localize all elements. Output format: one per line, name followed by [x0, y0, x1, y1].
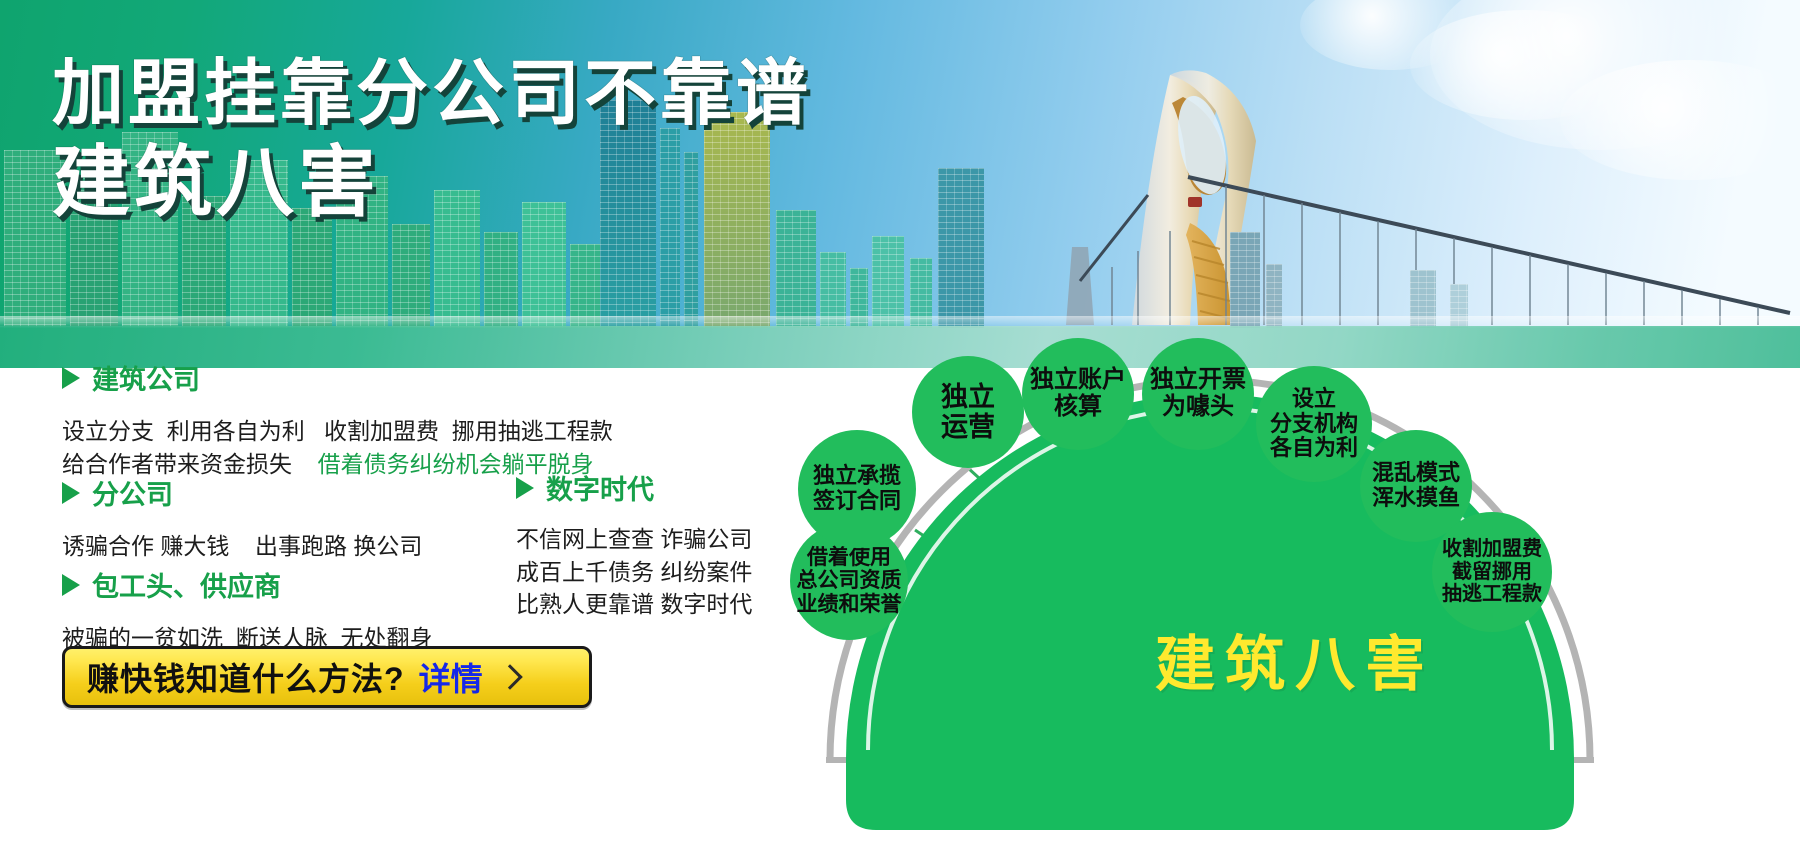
- section-heading: 包工头、供应商: [62, 565, 433, 604]
- section-heading: 建筑公司: [62, 358, 613, 397]
- section-branch-company: 分公司 诱骗合作 赚大钱 出事跑路 换公司: [62, 473, 422, 563]
- section-title: 建筑公司: [92, 358, 200, 397]
- section-line: 不信网上查查 诈骗公司: [516, 523, 752, 556]
- bubble-label-line: 设立: [1270, 387, 1358, 412]
- bubble-label-line: 截留挪用: [1442, 561, 1542, 583]
- left-content: 建筑公司 设立分支 利用各自为利 收割加盟费 挪用抽逃工程款 给合作者带来资金损…: [0, 368, 800, 844]
- bubble-label-line: 浑水摸鱼: [1372, 486, 1460, 511]
- triangle-bullet-icon: [62, 574, 80, 596]
- bubble-label-line: 业绩和荣誉: [797, 593, 902, 617]
- bubble-label-line: 运营: [941, 412, 995, 442]
- dome-center-label: 建筑八害: [790, 616, 1800, 703]
- bubble-label-line: 独立账户: [1030, 367, 1126, 394]
- section-digital-era: 数字时代 不信网上查查 诈骗公司 成百上千债务 纠纷案件 比熟人更靠谱 数字时代: [516, 468, 752, 621]
- cta-button[interactable]: 赚快钱知道什么方法? 详情: [62, 646, 592, 708]
- bubble-label-line: 混乱模式: [1372, 461, 1460, 486]
- section-line: 成百上千债务 纠纷案件: [516, 556, 752, 589]
- section-title: 包工头、供应商: [92, 565, 281, 604]
- poster-root: 加盟挂靠分公司不靠谱 建筑八害 建筑公司 设立分支 利用各自为利 收割加盟费 挪…: [0, 0, 1800, 844]
- bubble-label-line: 签订合同: [813, 489, 901, 514]
- chevron-right-icon: [497, 664, 522, 689]
- bubble-node[interactable]: 设立分支机构各自为利: [1256, 366, 1372, 482]
- hero-headline: 加盟挂靠分公司不靠谱 建筑八害: [52, 56, 812, 224]
- bubble-label: 借着使用总公司资质业绩和荣誉: [797, 546, 902, 617]
- cta-detail-link[interactable]: 详情: [419, 654, 483, 700]
- section-heading: 分公司: [62, 473, 422, 512]
- line-text: 设立分支 利用各自为利 收割加盟费 挪用抽逃工程款: [62, 418, 613, 444]
- bubble-label-line: 抽逃工程款: [1442, 583, 1542, 605]
- bubble-node[interactable]: 独立账户核算: [1022, 338, 1134, 450]
- headline-line-2: 建筑八害: [52, 140, 812, 224]
- triangle-bullet-icon: [62, 367, 80, 389]
- bubble-label: 混乱模式浑水摸鱼: [1372, 461, 1460, 510]
- section-line: 诱骗合作 赚大钱 出事跑路 换公司: [62, 530, 422, 563]
- bubble-diagram: 建筑八害 借着使用总公司资质业绩和荣誉 独立承揽签订合同 独立运营 独立账户核算…: [790, 330, 1800, 844]
- section-contractor-supplier: 包工头、供应商 被骗的一贫如洗 断送人脉 无处翻身: [62, 565, 433, 655]
- bubble-label: 独立运营: [941, 382, 995, 442]
- headline-line-1: 加盟挂靠分公司不靠谱: [52, 56, 812, 134]
- bubble-node[interactable]: 收割加盟费截留挪用抽逃工程款: [1432, 512, 1552, 632]
- cta-label: 赚快钱知道什么方法?: [87, 654, 405, 700]
- triangle-bullet-icon: [516, 477, 534, 499]
- bubble-node[interactable]: 独立开票为噱头: [1142, 338, 1254, 450]
- section-line: 设立分支 利用各自为利 收割加盟费 挪用抽逃工程款: [62, 415, 613, 448]
- section-title: 分公司: [92, 473, 173, 512]
- bubble-label-line: 独立承揽: [813, 464, 901, 489]
- hero-banner: 加盟挂靠分公司不靠谱 建筑八害: [0, 0, 1800, 368]
- triangle-bullet-icon: [62, 482, 80, 504]
- bubble-label-line: 核算: [1030, 394, 1126, 421]
- section-heading: 数字时代: [516, 468, 752, 507]
- bubble-label-line: 分支机构: [1270, 412, 1358, 437]
- bubble-node[interactable]: 独立运营: [912, 356, 1024, 468]
- section-line: 比熟人更靠谱 数字时代: [516, 588, 752, 621]
- bubble-label: 独立开票为噱头: [1150, 367, 1246, 421]
- city-skyline-right: [980, 98, 1800, 328]
- bubble-label: 收割加盟费截留挪用抽逃工程款: [1442, 538, 1542, 605]
- section-title: 数字时代: [546, 468, 654, 507]
- bubble-label: 设立分支机构各自为利: [1270, 387, 1358, 461]
- bubble-label-line: 为噱头: [1150, 394, 1246, 421]
- bubble-label-line: 独立: [941, 382, 995, 412]
- bubble-label-line: 收割加盟费: [1442, 538, 1542, 560]
- bubble-node[interactable]: 独立承揽签订合同: [798, 430, 916, 548]
- bubble-label-line: 总公司资质: [797, 569, 902, 593]
- bubble-label-line: 各自为利: [1270, 436, 1358, 461]
- bubble-label: 独立承揽签订合同: [813, 464, 901, 513]
- bubble-label-line: 借着使用: [797, 546, 902, 570]
- bubble-label-line: 独立开票: [1150, 367, 1246, 394]
- bubble-label: 独立账户核算: [1030, 367, 1126, 421]
- section-construction-company: 建筑公司 设立分支 利用各自为利 收割加盟费 挪用抽逃工程款 给合作者带来资金损…: [62, 358, 613, 480]
